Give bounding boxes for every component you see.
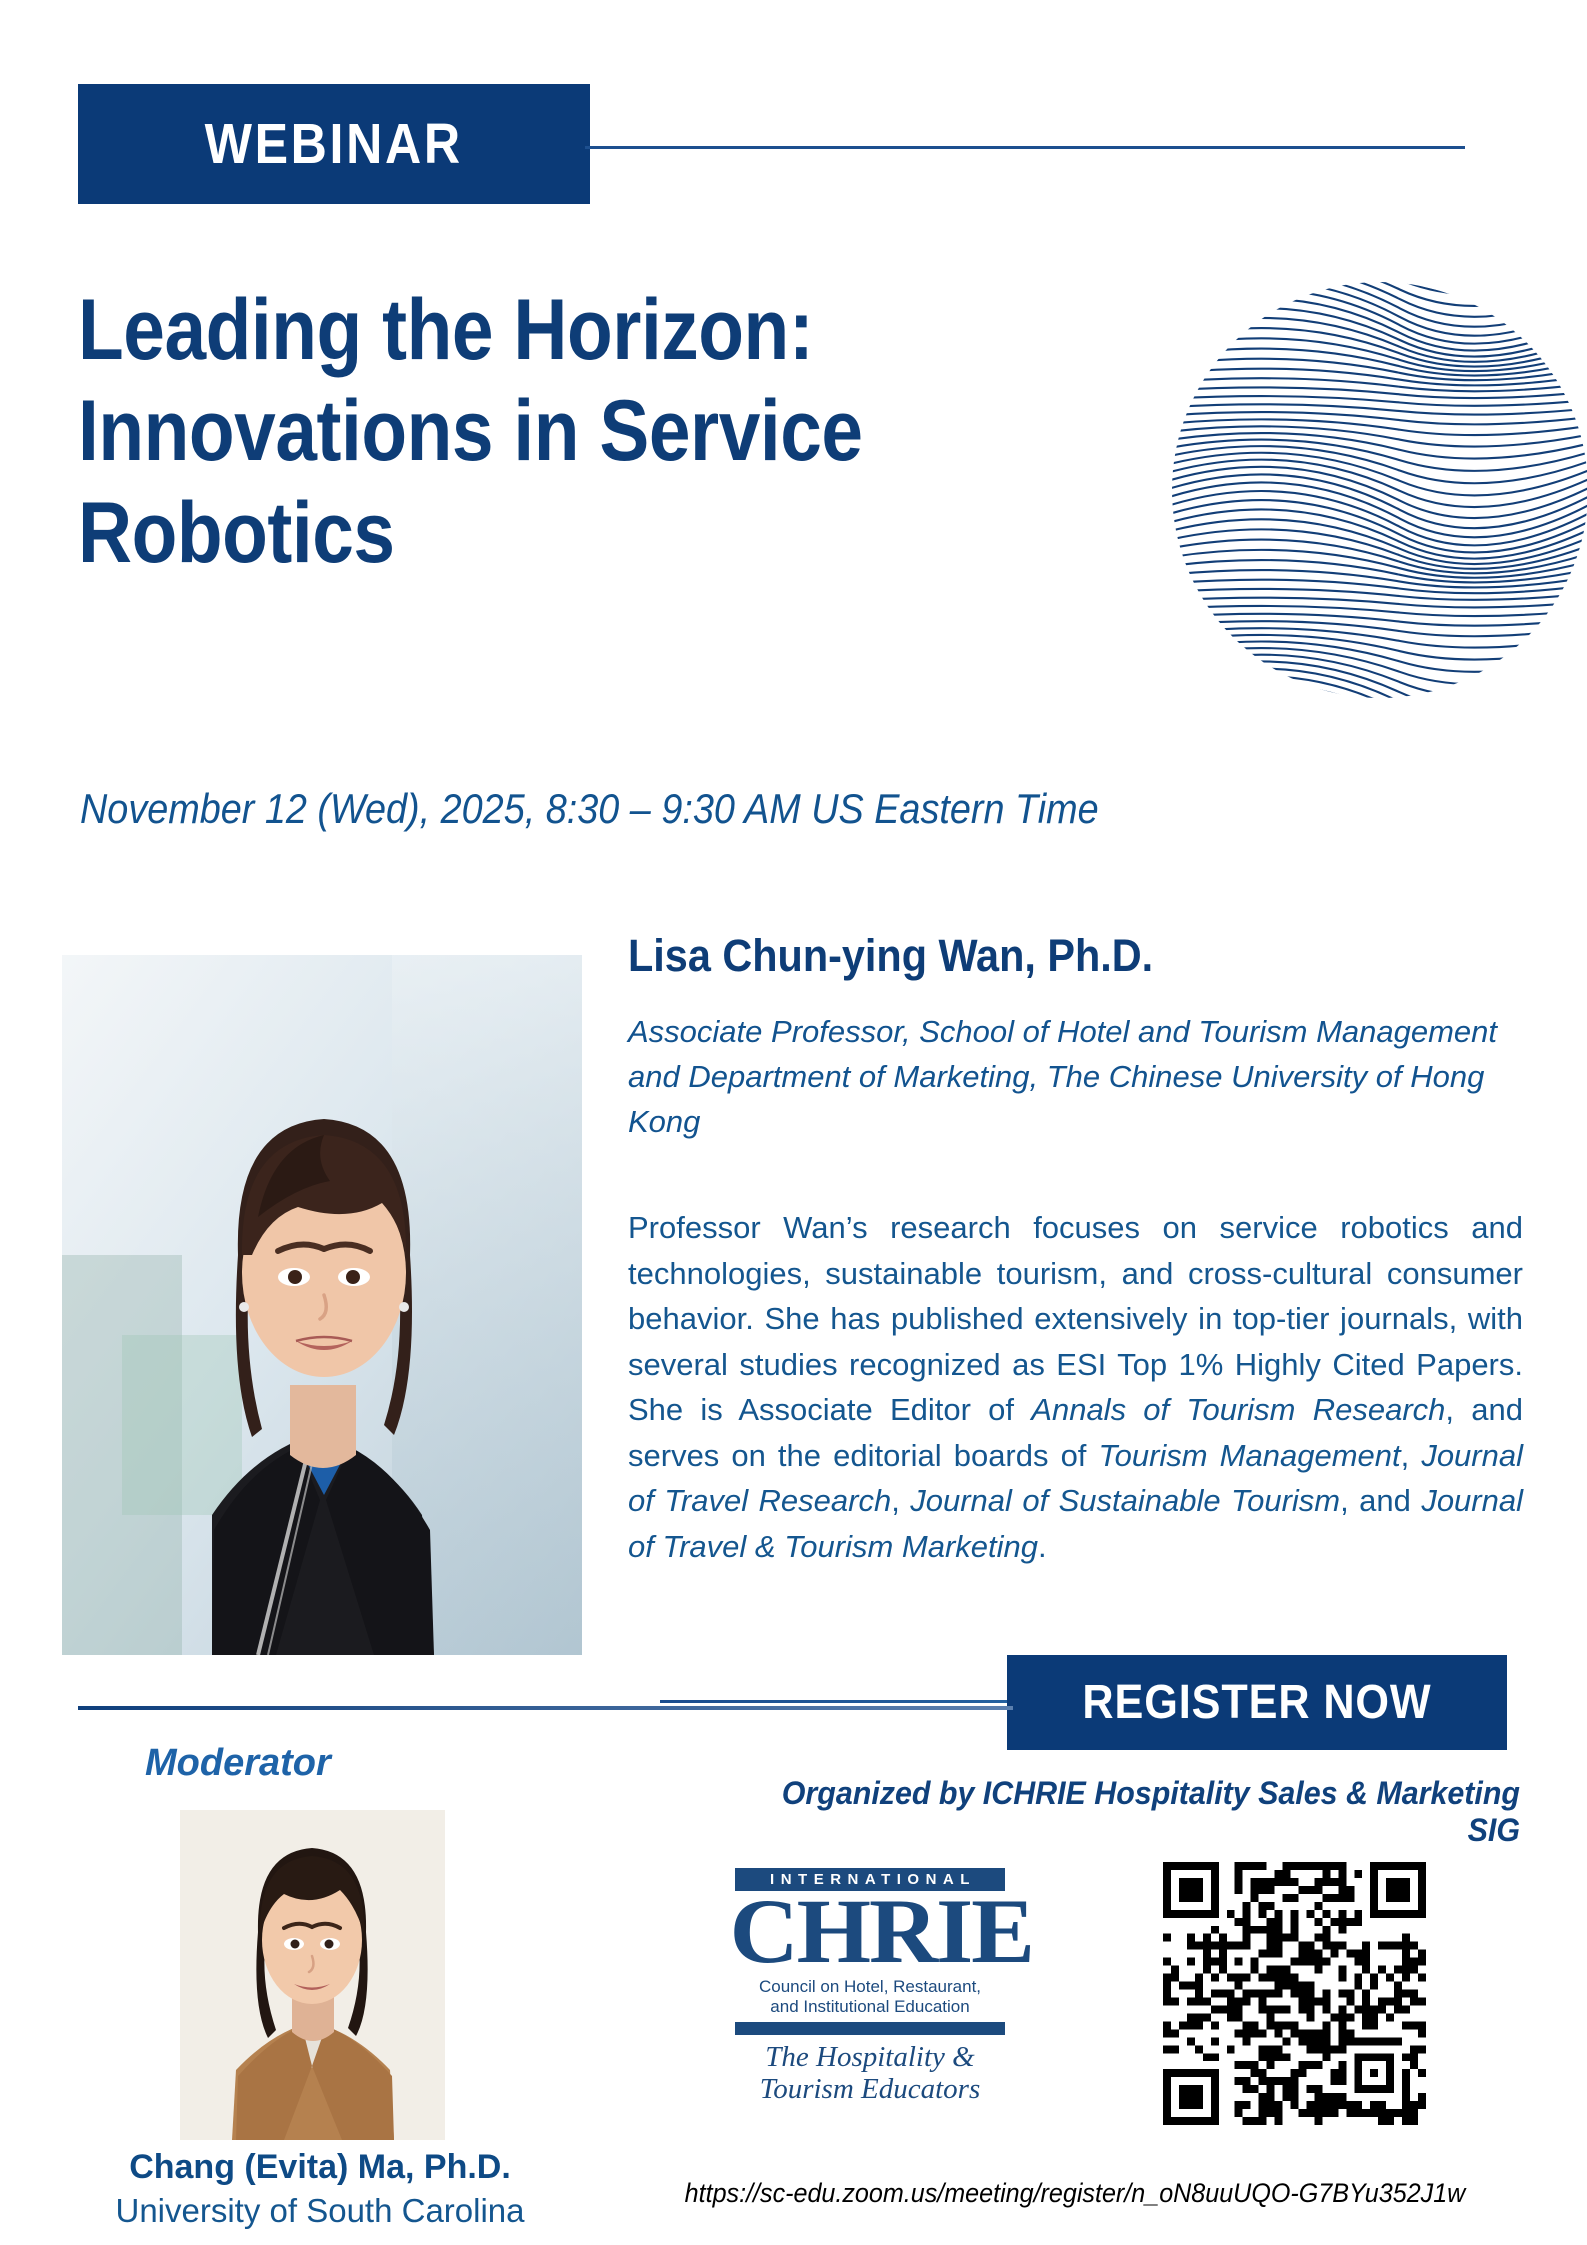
moderator-divider-rule	[78, 1706, 1013, 1710]
speaker-photo	[62, 955, 582, 1655]
speaker-name: Lisa Chun-ying Wan, Ph.D.	[628, 930, 1153, 982]
ichrie-logo-tagline-line-2: Tourism Educators	[735, 2074, 1005, 2106]
moderator-photo	[180, 1810, 445, 2140]
ichrie-logo-wordmark: CHRIE	[730, 1889, 1011, 1974]
register-divider-rule	[660, 1700, 1012, 1703]
webinar-badge: WEBINAR	[78, 84, 590, 204]
wave-circle-decoration	[1170, 240, 1587, 740]
register-now-label: REGISTER NOW	[1082, 1675, 1431, 1730]
event-datetime: November 12 (Wed), 2025, 8:30 – 9:30 AM …	[80, 785, 1099, 833]
registration-qr-code[interactable]	[1163, 1862, 1426, 2125]
webinar-badge-label: WEBINAR	[205, 111, 463, 177]
moderator-label: Moderator	[145, 1742, 331, 1785]
moderator-organization: University of South Carolina	[40, 2192, 600, 2230]
webinar-poster: WEBINAR Leading the Horizon: Innovations…	[0, 0, 1587, 2245]
page-title-line-2: Innovations in Service	[78, 381, 1026, 482]
moderator-name: Chang (Evita) Ma, Ph.D.	[40, 2148, 600, 2187]
ichrie-logo-tagline-line-1: The Hospitality &	[735, 2042, 1005, 2074]
header-divider-rule	[585, 146, 1465, 149]
organizer-line: Organized by ICHRIE Hospitality Sales & …	[732, 1775, 1521, 1849]
register-now-button[interactable]: REGISTER NOW	[1007, 1655, 1507, 1750]
page-title-line-3: Robotics	[78, 483, 1026, 584]
speaker-bio: Professor Wan’s research focuses on serv…	[628, 1205, 1523, 1570]
ichrie-logo-bar	[735, 2022, 1005, 2035]
registration-url[interactable]: https://sc-edu.zoom.us/meeting/register/…	[629, 2178, 1522, 2209]
ichrie-logo-subtitle-line-2: and Institutional Education	[735, 1997, 1005, 2017]
speaker-affiliation: Associate Professor, School of Hotel and…	[628, 1010, 1518, 1145]
page-title: Leading the Horizon: Innovations in Serv…	[78, 280, 1168, 584]
ichrie-logo: INTERNATIONAL CHRIE Council on Hotel, Re…	[735, 1868, 1005, 2133]
page-title-line-1: Leading the Horizon:	[78, 280, 1026, 381]
